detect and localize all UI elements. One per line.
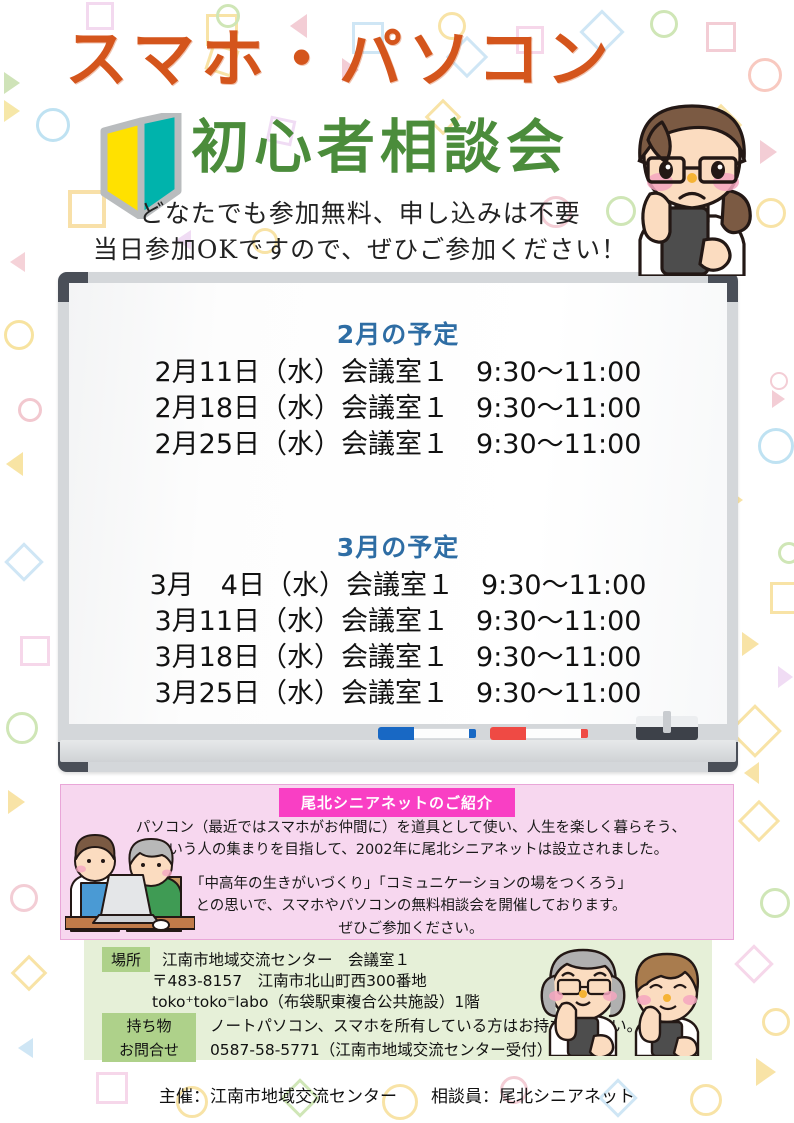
lead-line-1: どなたでも参加無料、申し込みは不要 [60,196,660,232]
intro-paragraph-1-text: パソコン（最近ではスマホがお仲間に）を道具として使い、人生を楽しく暮らそう、 と… [136,820,686,858]
senior-net-intro-panel: 尾北シニアネットのご紹介 パソコン（最近ではスマホがお仲間に）を道具として使い、… [60,784,734,940]
intro-paragraph-2-text: 「中高年の生きがいづくり」「コミュニケーションの場をつくろう」 との思いで、スマ… [190,876,632,937]
decor-diamond [734,944,774,984]
decor-square [770,582,794,614]
marker-body [524,728,582,739]
decor-diamond [4,542,44,582]
eraser-knob [663,711,671,733]
schedule-row: 3月11日（水）会議室１ 9:30〜11:00 [69,604,727,640]
decor-circle [758,428,794,464]
decor-circle [6,712,38,744]
laptop-lesson-illustration [65,827,195,939]
schedule-row: 2月25日（水）会議室１ 9:30〜11:00 [69,427,727,463]
decor-square [20,636,50,666]
seniors-with-smartphones-illustration [532,944,708,1056]
whiteboard: 2月の予定 2月11日（水）会議室１ 9:30〜11:00 2月18日（水）会議… [58,272,738,772]
lead-line-2: 当日参加OKですので、ぜひご参加ください！ [60,232,660,268]
organizer-footer: 主催：江南市地域交流センター 相談員：尾北シニアネット [0,1082,794,1107]
schedule-month-february: 2月の予定 2月11日（水）会議室１ 9:30〜11:00 2月18日（水）会議… [69,315,727,463]
place-label: 場所 [102,947,150,972]
decor-circle [778,542,794,564]
decor-circle [10,884,38,912]
inquiry-row: お問合せ 0587-58-5771（江南市地域交流センター受付） [102,1037,552,1062]
month-heading: 3月の予定 [69,528,727,564]
page-title: スマホ・パソコン [0,28,680,91]
decor-triangle [778,666,793,688]
decor-diamond [738,800,780,842]
place-value-line-2: 〒483-8157 江南市北山町西300番地 [152,969,427,991]
decor-triangle [772,390,785,408]
lead-text: どなたでも参加無料、申し込みは不要 当日参加OKですので、ぜひご参加ください！ [60,196,660,267]
decor-diamond [11,955,48,992]
whiteboard-tray [60,740,736,762]
decor-triangle [18,1038,33,1058]
marker-cap [490,727,526,740]
decor-triangle [6,452,23,476]
decor-circle [762,1008,790,1036]
decor-circle [770,372,788,390]
schedule-row: 2月11日（水）会議室１ 9:30〜11:00 [69,355,727,391]
marker-body [412,728,470,739]
inquiry-label: お問合せ [102,1037,196,1062]
inquiry-value: 0587-58-5771（江南市地域交流センター受付） [210,1041,552,1059]
schedule-row: 3月25日（水）会議室１ 9:30〜11:00 [69,676,727,712]
decor-triangle [744,762,759,784]
marker-tip [469,729,476,738]
whiteboard-surface: 2月の予定 2月11日（水）会議室１ 9:30〜11:00 2月18日（水）会議… [69,283,727,724]
decor-circle [18,398,42,422]
decor-triangle [8,790,25,814]
intro-paragraph-2: 「中高年の生きがいづくり」「コミュニケーションの場をつくろう」 との思いで、スマ… [107,873,715,940]
month-heading: 2月の予定 [69,315,727,351]
marker-cap [378,727,414,740]
red-marker [490,727,588,740]
schedule-row: 3月18日（水）会議室１ 9:30〜11:00 [69,640,727,676]
decor-circle [760,888,790,918]
blue-marker [378,727,476,740]
schedule-row: 3月 4日（水）会議室１ 9:30〜11:00 [69,568,727,604]
decor-triangle [742,632,759,656]
poster-header: スマホ・パソコン 初心者相談会 どなたでも参加無料、申し込みは不要 当日参加OK… [0,0,794,272]
place-value-line-3: toko⁺toko⁼labo（布袋駅東複合公共施設）1階 [152,990,480,1012]
marker-tip [581,729,588,738]
decor-circle [4,320,34,350]
woman-with-smartphone-illustration [604,98,788,276]
bring-label: 持ち物 [102,1013,196,1038]
whiteboard-eraser [636,716,698,740]
intro-badge: 尾北シニアネットのご紹介 [279,788,515,817]
schedule-month-march: 3月の予定 3月 4日（水）会議室１ 9:30〜11:00 3月11日（水）会議… [69,528,727,712]
schedule-row: 2月18日（水）会議室１ 9:30〜11:00 [69,391,727,427]
place-value-line-1: 江南市地域交流センター 会議室１ [162,951,410,969]
intro-paragraph-1: パソコン（最近ではスマホがお仲間に）を道具として使い、人生を楽しく暮らそう、 と… [107,817,715,862]
poster-page: スマホ・パソコン 初心者相談会 どなたでも参加無料、申し込みは不要 当日参加OK… [0,0,794,1123]
contact-panel: 場所 江南市地域交流センター 会議室１ 〒483-8157 江南市北山町西300… [84,940,712,1060]
